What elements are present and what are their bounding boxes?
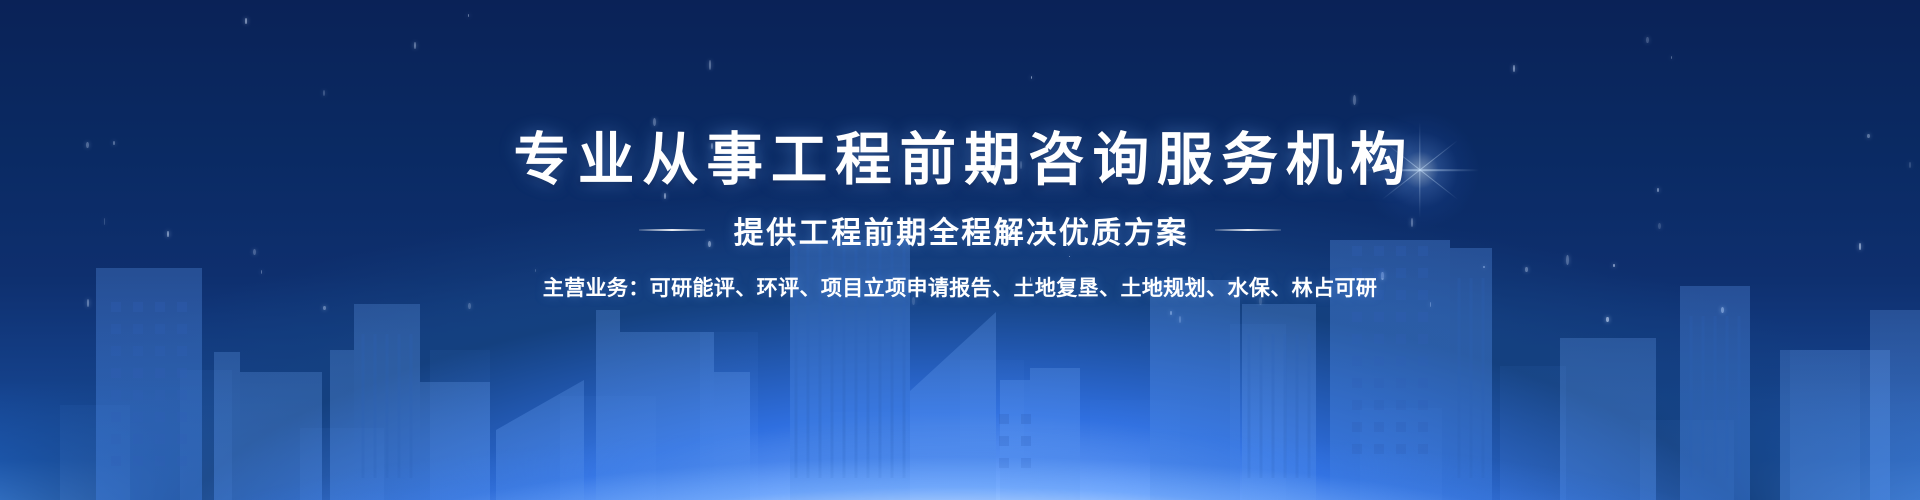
business-scope-line: 主营业务：可研能评、环评、项目立项申请报告、土地复垦、土地规划、水保、林占可研 <box>0 272 1920 302</box>
right-rule <box>1215 229 1281 231</box>
subtitle-row: 提供工程前期全程解决优质方案 <box>0 208 1920 252</box>
left-rule <box>639 229 705 231</box>
hero-banner: 专业从事工程前期咨询服务机构 提供工程前期全程解决优质方案 主营业务：可研能评、… <box>0 0 1920 500</box>
banner-content: 专业从事工程前期咨询服务机构 提供工程前期全程解决优质方案 主营业务：可研能评、… <box>0 0 1920 500</box>
banner-subtitle: 提供工程前期全程解决优质方案 <box>731 208 1189 252</box>
page-title: 专业从事工程前期咨询服务机构 <box>10 132 1911 189</box>
